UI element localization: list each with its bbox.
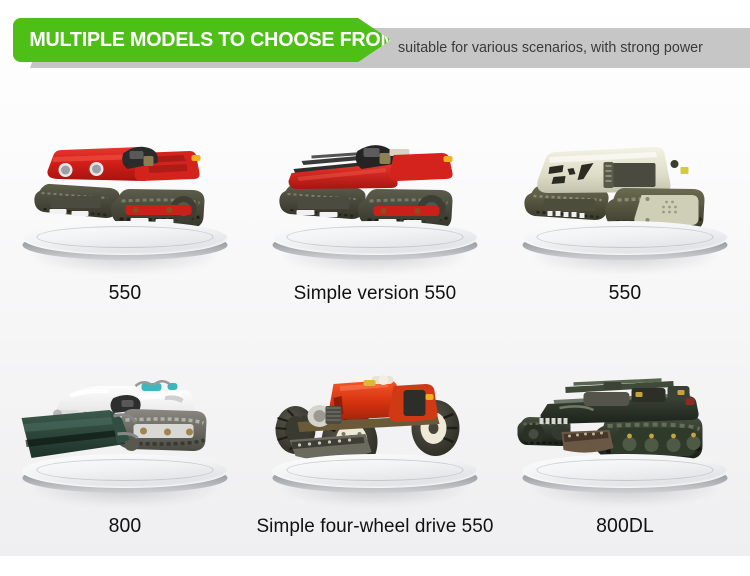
product-grid: 550 <box>0 78 750 544</box>
platform-top <box>23 221 228 255</box>
page-title: MULTIPLE MODELS TO CHOOSE FROM <box>13 28 397 52</box>
product-label: Simple version 550 <box>254 282 497 305</box>
display-platform <box>273 221 478 267</box>
product-label: 800 <box>4 515 247 538</box>
product-label: 800DL <box>504 515 747 538</box>
product-label: Simple four-wheel drive 550 <box>254 515 497 538</box>
display-platform <box>23 454 228 500</box>
header: MULTIPLE MODELS TO CHOOSE FROM suitable … <box>0 0 750 72</box>
platform-ring <box>37 226 213 248</box>
platform-top <box>523 221 728 255</box>
product-cell-simple-version-550[interactable]: Simple version 550 <box>250 78 500 311</box>
header-green-banner: MULTIPLE MODELS TO CHOOSE FROM <box>13 18 391 62</box>
product-cell-800-plow[interactable]: 800 <box>0 311 250 544</box>
product-cell-550-armored[interactable]: 550 <box>500 78 750 311</box>
product-cell-550-hooded[interactable]: 550 <box>0 78 250 311</box>
display-platform <box>23 221 228 267</box>
header-subtitle: suitable for various scenarios, with str… <box>398 29 703 67</box>
display-platform <box>523 221 728 267</box>
platform-top <box>273 221 478 255</box>
product-model-banner: MULTIPLE MODELS TO CHOOSE FROM suitable … <box>0 0 750 576</box>
platform-ring <box>37 459 213 481</box>
display-platform <box>273 454 478 500</box>
product-row: 550 <box>0 78 750 311</box>
platform-ring <box>537 226 713 248</box>
platform-ring <box>287 459 463 481</box>
product-cell-simple-four-wheel-drive-550[interactable]: Simple four-wheel drive 550 <box>250 311 500 544</box>
product-cell-800dl[interactable]: 800DL <box>500 311 750 544</box>
product-label: 550 <box>4 282 247 305</box>
platform-top <box>273 454 478 488</box>
platform-top <box>523 454 728 488</box>
platform-top <box>23 454 228 488</box>
display-platform <box>523 454 728 500</box>
product-label: 550 <box>504 282 747 305</box>
platform-ring <box>537 459 713 481</box>
platform-ring <box>287 226 463 248</box>
product-row: 800 <box>0 311 750 544</box>
